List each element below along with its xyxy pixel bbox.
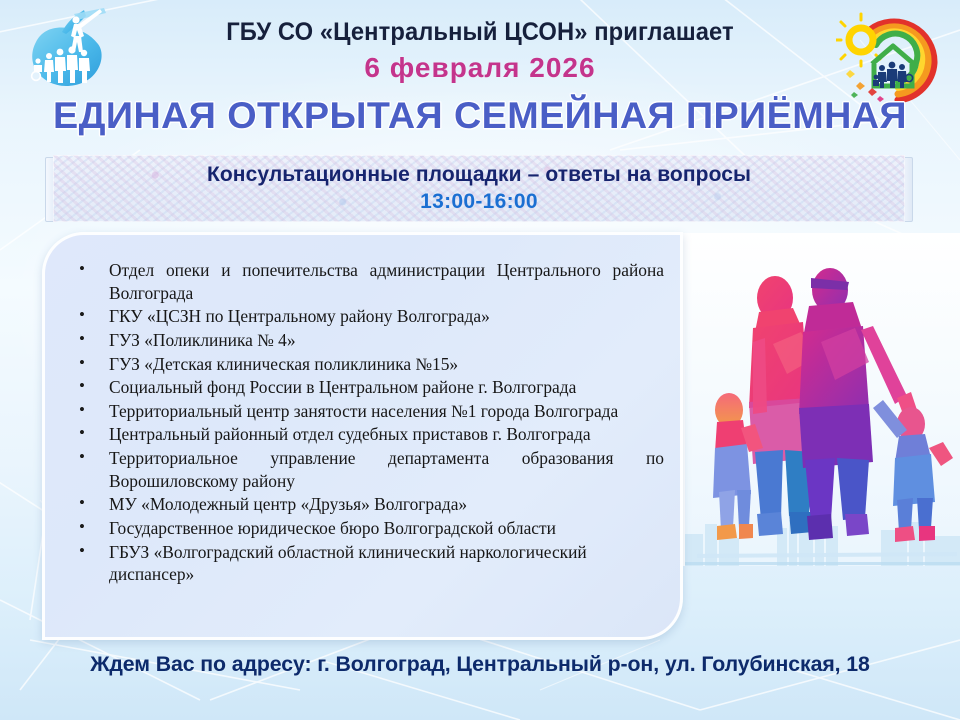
banner-heading: Консультационные площадки – ответы на во…	[207, 163, 751, 187]
list-item: Территориальное управление департамента …	[67, 447, 664, 492]
list-item: Территориальный центр занятости населени…	[67, 400, 664, 423]
organizer-line: ГБУ СО «Центральный ЦСОН» приглашает	[148, 18, 813, 47]
list-item: ГКУ «ЦСЗН по Центральному району Волгогр…	[67, 305, 664, 328]
list-item: ГУЗ «Детская клиническая поликлиника №15…	[67, 353, 664, 376]
header: ГБУ СО «Центральный ЦСОН» приглашает 6 ф…	[0, 0, 960, 150]
list-item: Центральный районный отдел судебных прис…	[67, 423, 664, 446]
organizations-list: Отдел опеки и попечительства администрац…	[45, 235, 680, 586]
list-item: МУ «Молодежный центр «Друзья» Волгограда…	[67, 493, 664, 516]
list-item: Социальный фонд России в Центральном рай…	[67, 376, 664, 399]
subtitle-banner: Консультационные площадки – ответы на во…	[45, 155, 913, 222]
page-title: ЕДИНАЯ ОТКРЫТАЯ СЕМЕЙНАЯ ПРИЁМНАЯ	[0, 95, 960, 137]
list-item: ГУЗ «Поликлиника № 4»	[67, 329, 664, 352]
event-date: 6 февраля 2026	[130, 52, 830, 84]
address-footer: Ждем Вас по адресу: г. Волгоград, Центра…	[5, 652, 955, 677]
banner-time: 13:00-16:00	[420, 190, 538, 214]
artwork-panel	[683, 233, 960, 566]
organizations-card: Отдел опеки и попечительства администрац…	[42, 232, 683, 640]
poster: ГБУ СО «Центральный ЦСОН» приглашает 6 ф…	[0, 0, 960, 720]
low-poly-family-illustration	[697, 262, 957, 562]
list-item: Отдел опеки и попечительства администрац…	[67, 259, 664, 304]
header-text-block: ГБУ СО «Центральный ЦСОН» приглашает 6 ф…	[130, 18, 830, 84]
list-item: Государственное юридическое бюро Волгогр…	[67, 517, 664, 540]
rainbow-house-family-logo	[836, 8, 948, 108]
banner-text: Консультационные площадки – ответы на во…	[53, 155, 905, 222]
list-item: ГБУЗ «Волгоградский областной клинически…	[67, 541, 664, 586]
